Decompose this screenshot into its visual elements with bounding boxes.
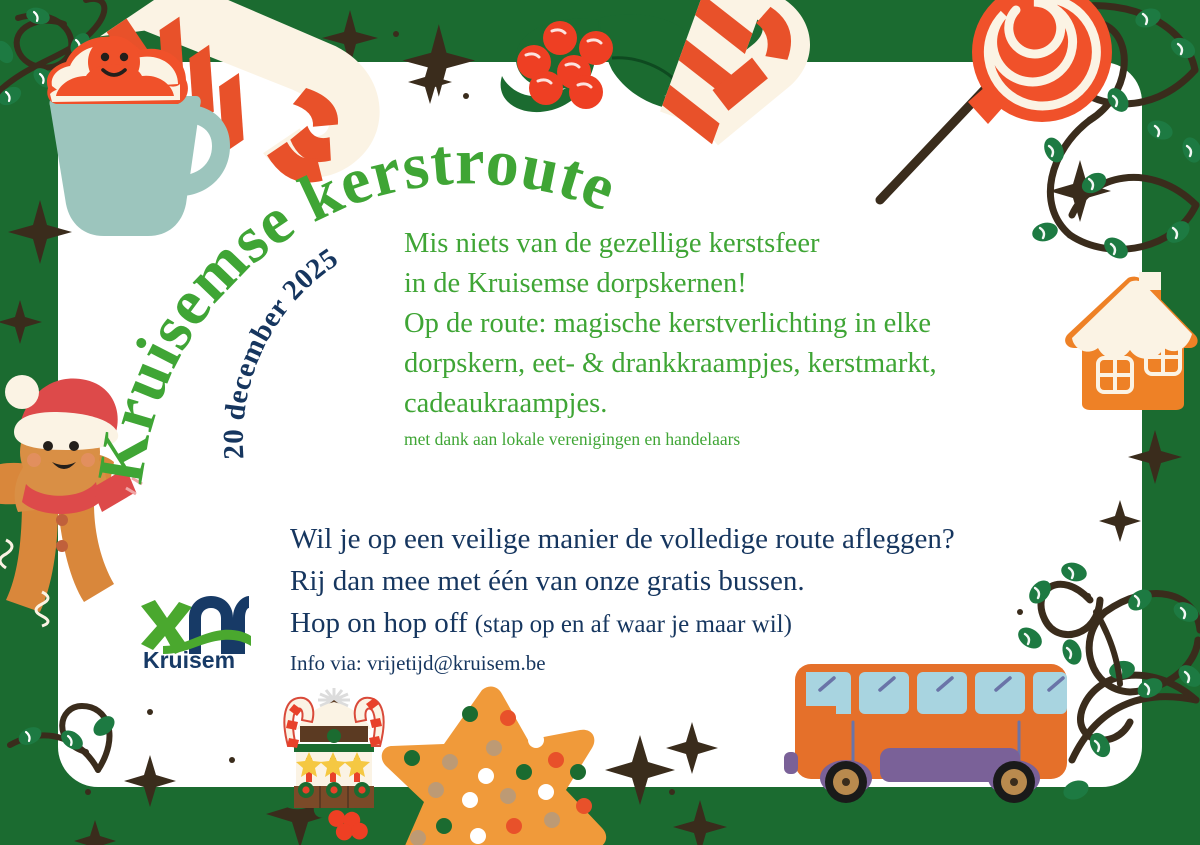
intro-line-3: Op de route: magische kerstverlichting i… [404, 304, 1064, 344]
svg-text:20 december 2025: 20 december 2025 [218, 242, 344, 460]
date-text: 20 december 2025 [218, 242, 344, 460]
poster-canvas: Kruisemse kerstroute 20 december 2025 Mi… [0, 0, 1200, 845]
holly-berries-icon [285, 790, 376, 840]
hop-on-hop-off-note: (stap op en af waar je maar wil) [475, 611, 792, 638]
bus-info-line-2: Rij dan mee met één van onze gratis buss… [290, 560, 1120, 602]
bus-info-paragraph: Wil je op een veilige manier de volledig… [290, 518, 1120, 678]
hop-on-hop-off-text: Hop on hop off [290, 607, 467, 639]
intro-line-4: dorpskern, eet- & drankkraampjes, kerstm… [404, 344, 1064, 384]
intro-line-2: in de Kruisemse dorpskernen! [404, 264, 1064, 304]
intro-line-5: cadeaukraampjes. [404, 384, 1064, 424]
bus-info-line-1: Wil je op een veilige manier de volledig… [290, 518, 1120, 560]
intro-line-1: Mis niets van de gezellige kerstsfeer [404, 224, 1064, 264]
bus-info-line-3: Hop on hop off (stap op en af waar je ma… [290, 602, 1120, 646]
contact-info-line[interactable]: Info via: vrijetijd@kruisem.be [290, 648, 1120, 678]
intro-paragraph: Mis niets van de gezellige kerstsfeer in… [404, 224, 1064, 451]
intro-credit-line: met dank aan lokale verenigingen en hand… [404, 427, 1064, 451]
kruisem-logo: Kruisem [137, 592, 255, 670]
logo-wordmark: Kruisem [143, 647, 235, 670]
